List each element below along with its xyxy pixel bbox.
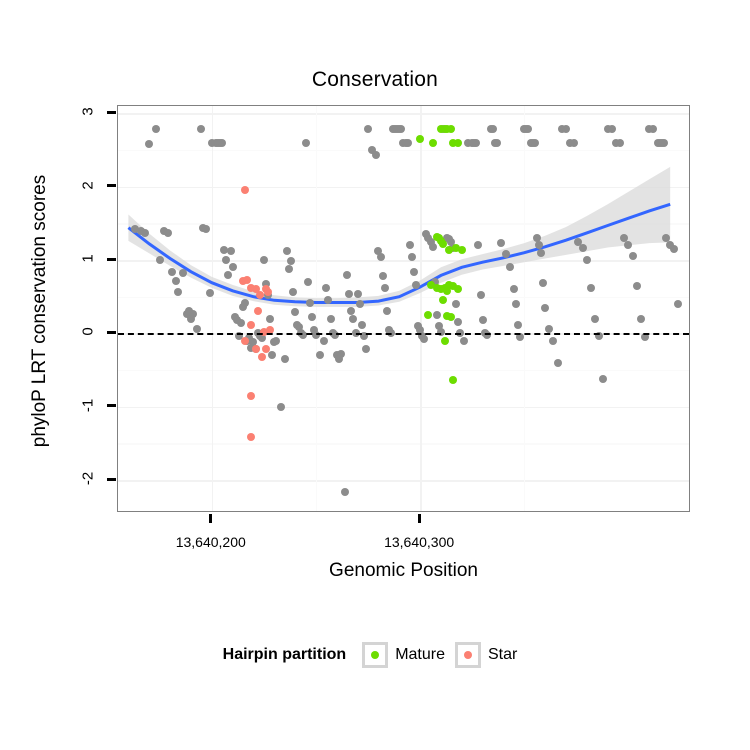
data-point-other: [337, 350, 345, 358]
data-point-other: [164, 229, 172, 237]
gridline-y-minor: [118, 443, 689, 444]
legend-label: Star: [488, 646, 517, 664]
data-point-other: [537, 249, 545, 257]
y-axis-label: phyloP LRT conservation scores: [29, 101, 51, 521]
data-point-mature: [454, 285, 462, 293]
gridline-x-minor: [524, 106, 525, 511]
data-point-other: [583, 256, 591, 264]
data-point-other: [356, 300, 364, 308]
legend: Hairpin partition MatureStar: [0, 642, 750, 668]
legend-item-star[interactable]: Star: [455, 642, 527, 668]
gridline-y-major: [118, 113, 689, 115]
data-point-other: [433, 311, 441, 319]
data-point-other: [281, 355, 289, 363]
data-point-other: [554, 359, 562, 367]
data-point-other: [174, 288, 182, 296]
data-point-star: [254, 307, 262, 315]
data-point-other: [283, 247, 291, 255]
data-point-star: [241, 337, 249, 345]
data-point-other: [324, 296, 332, 304]
data-point-other: [306, 299, 314, 307]
zero-reference-line: [118, 333, 689, 335]
data-point-other: [514, 321, 522, 329]
data-point-other: [510, 285, 518, 293]
y-tick-mark: [107, 404, 116, 407]
gridline-y-major: [118, 480, 689, 482]
data-point-other: [308, 313, 316, 321]
data-point-other: [545, 325, 553, 333]
y-tick-label: 2: [80, 172, 97, 198]
data-point-other: [408, 253, 416, 261]
data-point-other: [224, 271, 232, 279]
data-point-star: [241, 186, 249, 194]
data-point-other: [193, 325, 201, 333]
data-point-other: [587, 284, 595, 292]
data-point-other: [489, 125, 497, 133]
data-point-other: [474, 241, 482, 249]
data-point-other: [272, 337, 280, 345]
data-point-other: [322, 284, 330, 292]
data-point-other: [179, 269, 187, 277]
y-tick-label: 1: [80, 246, 97, 272]
data-point-other: [629, 252, 637, 260]
data-point-mature: [454, 139, 462, 147]
data-point-other: [285, 265, 293, 273]
data-point-other: [460, 337, 468, 345]
data-point-other: [637, 315, 645, 323]
data-point-other: [277, 403, 285, 411]
data-point-mature: [424, 311, 432, 319]
gridline-x-major: [420, 106, 422, 511]
data-point-mature: [458, 246, 466, 254]
data-point-other: [237, 319, 245, 327]
data-point-other: [291, 308, 299, 316]
data-point-other: [141, 229, 149, 237]
conservation-scatter-plot: Conservation phyloP LRT conservation sco…: [0, 0, 750, 750]
data-point-other: [479, 316, 487, 324]
gridline-y-minor: [118, 370, 689, 371]
data-point-other: [512, 300, 520, 308]
y-tick-mark: [107, 478, 116, 481]
data-point-star: [258, 353, 266, 361]
data-point-other: [341, 488, 349, 496]
data-point-other: [549, 337, 557, 345]
data-point-other: [670, 245, 678, 253]
data-point-other: [674, 300, 682, 308]
data-point-other: [197, 125, 205, 133]
data-point-other: [497, 239, 505, 247]
data-point-other: [202, 225, 210, 233]
data-point-other: [660, 139, 668, 147]
data-point-other: [218, 139, 226, 147]
data-point-other: [316, 351, 324, 359]
y-tick-label: -2: [80, 466, 97, 492]
data-point-other: [477, 291, 485, 299]
plot-panel: [117, 105, 690, 512]
data-point-other: [633, 282, 641, 290]
data-point-other: [227, 247, 235, 255]
data-point-other: [287, 257, 295, 265]
x-tick-mark: [209, 514, 212, 523]
data-point-other: [404, 139, 412, 147]
legend-key-swatch: [455, 642, 481, 668]
data-point-other: [524, 125, 532, 133]
legend-dot-icon: [371, 651, 379, 659]
data-point-other: [268, 351, 276, 359]
y-tick-label: 3: [80, 99, 97, 125]
y-tick-mark: [107, 258, 116, 261]
data-point-other: [302, 139, 310, 147]
data-point-other: [152, 125, 160, 133]
data-point-star: [252, 345, 260, 353]
data-point-other: [608, 125, 616, 133]
gridline-y-major: [118, 407, 689, 409]
data-point-other: [364, 125, 372, 133]
data-point-other: [206, 289, 214, 297]
data-point-mature: [449, 376, 457, 384]
gridline-x-major: [212, 106, 214, 511]
data-point-other: [260, 256, 268, 264]
data-point-other: [531, 139, 539, 147]
data-point-other: [172, 277, 180, 285]
x-axis-label: Genomic Position: [117, 560, 690, 582]
data-point-other: [397, 125, 405, 133]
data-point-other: [189, 310, 197, 318]
data-point-other: [222, 256, 230, 264]
gridline-y-major: [118, 260, 689, 262]
data-point-other: [562, 125, 570, 133]
y-tick-mark: [107, 111, 116, 114]
data-point-mature: [429, 139, 437, 147]
data-point-mature: [447, 125, 455, 133]
data-point-other: [372, 151, 380, 159]
gridline-y-minor: [118, 150, 689, 151]
legend-key-swatch: [362, 642, 388, 668]
data-point-other: [289, 288, 297, 296]
data-point-other: [472, 139, 480, 147]
data-point-other: [362, 345, 370, 353]
data-point-other: [358, 321, 366, 329]
gridline-x-minor: [316, 106, 317, 511]
data-point-other: [624, 241, 632, 249]
data-point-other: [570, 139, 578, 147]
legend-item-mature[interactable]: Mature: [362, 642, 455, 668]
data-point-other: [541, 304, 549, 312]
legend-label: Mature: [395, 646, 445, 664]
data-point-mature: [447, 313, 455, 321]
data-point-mature: [441, 337, 449, 345]
data-point-other: [539, 279, 547, 287]
data-point-other: [320, 337, 328, 345]
x-tick-mark: [418, 514, 421, 523]
data-point-other: [406, 241, 414, 249]
data-point-star: [247, 392, 255, 400]
data-point-other: [304, 278, 312, 286]
x-tick-label: 13,640,200: [176, 534, 246, 550]
data-point-other: [383, 307, 391, 315]
y-tick-label: 0: [80, 319, 97, 345]
data-point-other: [377, 253, 385, 261]
legend-dot-icon: [464, 651, 472, 659]
data-point-other: [420, 335, 428, 343]
data-point-other: [599, 375, 607, 383]
y-tick-mark: [107, 184, 116, 187]
data-point-other: [229, 263, 237, 271]
data-point-other: [349, 315, 357, 323]
data-point-star: [247, 433, 255, 441]
gridline-y-minor: [118, 297, 689, 298]
data-point-other: [579, 244, 587, 252]
data-point-other: [343, 271, 351, 279]
data-point-other: [506, 263, 514, 271]
x-tick-label: 13,640,300: [384, 534, 454, 550]
data-point-other: [412, 281, 420, 289]
chart-title: Conservation: [0, 68, 750, 92]
data-point-other: [381, 284, 389, 292]
legend-items: MatureStar: [362, 642, 527, 668]
data-point-mature: [416, 135, 424, 143]
data-point-star: [247, 321, 255, 329]
data-point-other: [168, 268, 176, 276]
data-point-other: [429, 243, 437, 251]
data-point-other: [591, 315, 599, 323]
loess-fit-line: [118, 106, 690, 512]
y-tick-label: -1: [80, 392, 97, 418]
data-point-other: [266, 315, 274, 323]
data-point-other: [345, 290, 353, 298]
data-point-other: [649, 125, 657, 133]
data-point-other: [145, 140, 153, 148]
data-point-other: [493, 139, 501, 147]
data-point-other: [410, 268, 418, 276]
data-point-other: [327, 315, 335, 323]
data-point-other: [616, 139, 624, 147]
y-tick-mark: [107, 331, 116, 334]
data-point-other: [502, 250, 510, 258]
data-point-mature: [439, 296, 447, 304]
data-point-star: [243, 276, 251, 284]
data-point-other: [452, 300, 460, 308]
data-point-other: [241, 299, 249, 307]
data-point-other: [379, 272, 387, 280]
legend-title: Hairpin partition: [223, 646, 347, 664]
data-point-other: [156, 256, 164, 264]
gridline-y-major: [118, 187, 689, 189]
data-point-star: [264, 288, 272, 296]
data-point-other: [354, 290, 362, 298]
